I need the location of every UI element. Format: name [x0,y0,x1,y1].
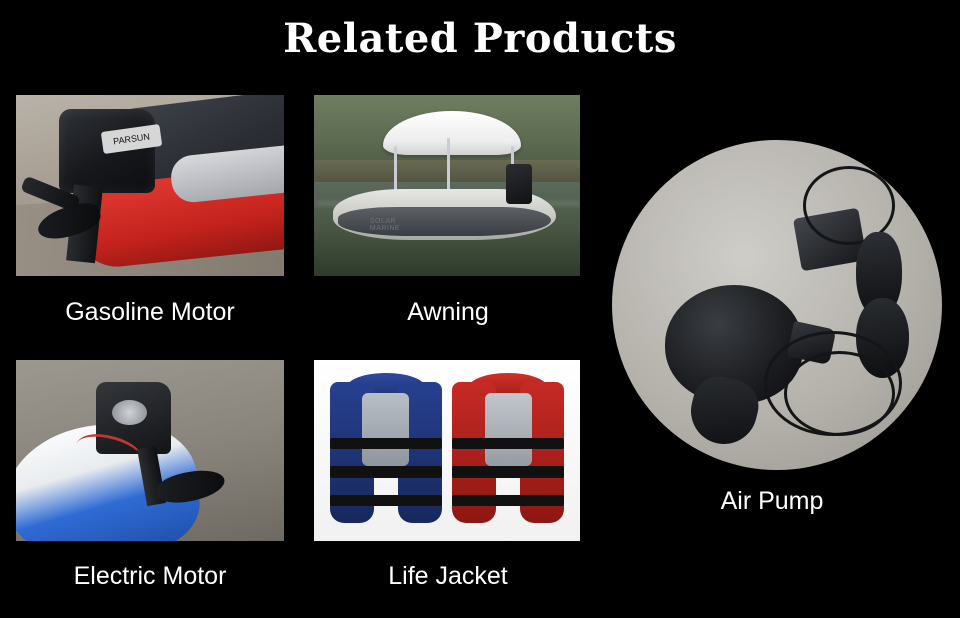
vest-strap-middle [330,466,442,477]
product-image-air-pump[interactable] [612,140,942,470]
vest-inner-lining [362,393,409,466]
gasoline-motor-photo: PARSUN [16,95,284,276]
boat-outboard-motor [506,164,533,204]
vest-strap-lower [330,495,442,506]
vest-inner-lining [485,393,532,466]
product-image-gasoline-motor[interactable]: PARSUN [16,95,284,276]
page-title: Related Products [283,19,677,59]
vest-strap-upper [330,438,442,449]
caption-life-jacket: Life Jacket [328,554,568,598]
product-image-awning[interactable]: SOLAR MARINE [314,95,580,276]
caption-gasoline-motor: Gasoline Motor [30,290,270,334]
vest-strap-upper [452,438,564,449]
power-cord-inner [784,351,896,436]
life-jacket-red [450,382,567,523]
electric-motor-photo [16,360,284,541]
vest-strap-middle [452,466,564,477]
life-jacket-photo [314,360,580,541]
caption-awning: Awning [328,290,568,334]
life-jacket-blue [327,382,444,523]
product-image-life-jacket[interactable] [314,360,580,541]
product-image-electric-motor[interactable] [16,360,284,541]
page-header: Related Products [0,0,960,78]
caption-electric-motor: Electric Motor [30,554,270,598]
awning-photo: SOLAR MARINE [314,95,580,276]
related-products-page: Related Products PARSUN Gasoline Motor [0,0,960,618]
vest-strap-lower [452,495,564,506]
boat-brand-logo: SOLAR MARINE [370,218,413,232]
caption-air-pump: Air Pump [652,479,892,523]
